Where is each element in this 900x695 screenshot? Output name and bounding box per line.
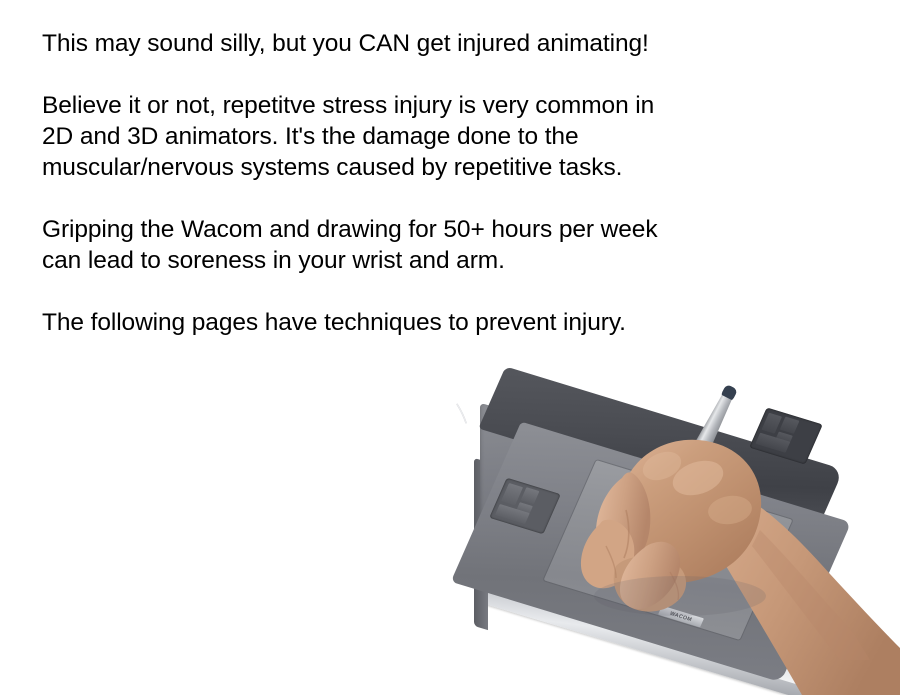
text-line: Gripping the Wacom and drawing for 50+ h… [42,214,802,245]
text-line: This may sound silly, but you CAN get in… [42,28,802,59]
text-line: The following pages have techniques to p… [42,307,802,338]
text-line: can lead to soreness in your wrist and a… [42,245,802,276]
graphics-tablet: WACOM [452,398,872,648]
paragraph-wacom-hours: Gripping the Wacom and drawing for 50+ h… [42,214,802,276]
text-line: 2D and 3D animators. It's the damage don… [42,121,802,152]
wacom-tablet-photo: WACOM [430,360,900,695]
paragraph-intro: This may sound silly, but you CAN get in… [42,28,802,59]
text-line: muscular/nervous systems caused by repet… [42,152,802,183]
paragraph-next-pages: The following pages have techniques to p… [42,307,802,338]
express-key[interactable] [521,487,540,504]
text-line: Believe it or not, repetitve stress inju… [42,90,802,121]
express-key[interactable] [780,417,800,434]
presentation-slide: This may sound silly, but you CAN get in… [0,0,900,695]
paragraph-rsi-explanation: Believe it or not, repetitve stress inju… [42,90,802,183]
slide-body-text: This may sound silly, but you CAN get in… [42,28,802,338]
express-key[interactable] [762,413,782,434]
photo-stage: WACOM [430,360,900,695]
